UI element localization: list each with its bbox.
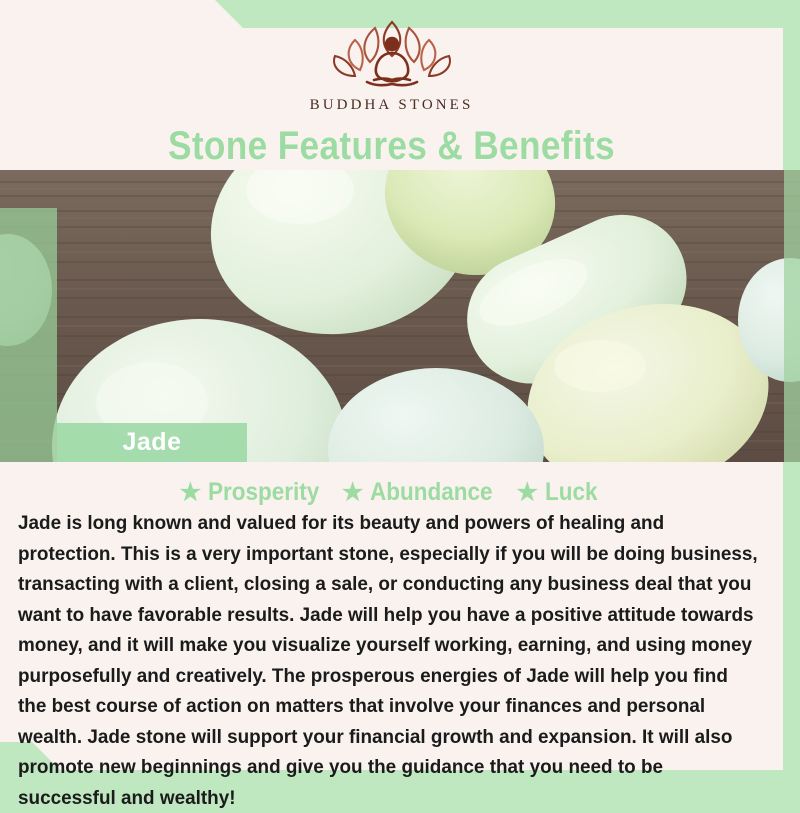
benefits-row: ★ Prosperity ★ Abundance ★ Luck — [0, 478, 783, 507]
benefit-label: Luck — [545, 478, 598, 507]
stone-description-text: Jade is long known and valued for its be… — [18, 508, 761, 813]
photo-left-accent-strip — [0, 208, 57, 462]
photo-right-accent-strip — [784, 170, 800, 462]
page-title: Stone Features & Benefits — [47, 124, 736, 169]
jade-stones-photo — [0, 170, 800, 462]
stone-name-label: Jade — [123, 428, 182, 457]
star-icon: ★ — [180, 481, 202, 505]
star-icon: ★ — [516, 481, 538, 505]
stone-name-badge: Jade — [57, 423, 247, 462]
benefit-item: ★ Prosperity — [180, 478, 332, 507]
lotus-meditation-icon — [317, 16, 467, 94]
benefit-label: Prosperity — [208, 478, 319, 507]
benefit-item: ★ Luck — [516, 478, 603, 507]
star-icon: ★ — [342, 481, 364, 505]
brand-name: BUDDHA STONES — [310, 97, 474, 114]
benefit-item: ★ Abundance — [342, 478, 507, 507]
benefit-label: Abundance — [370, 478, 493, 507]
